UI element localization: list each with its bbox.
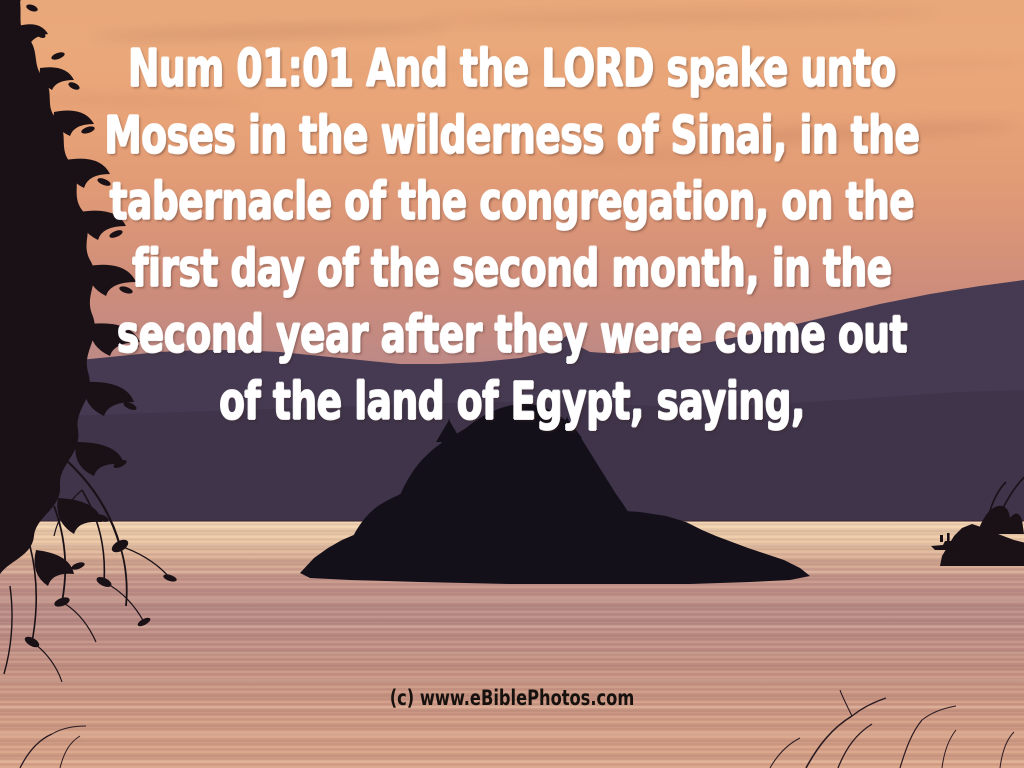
cloud-streak [420,8,940,25]
right-shore-brush-silhouette [940,470,1024,580]
bible-verse-text: Num 01:01 And the LORD spake unto Moses … [102,36,921,435]
copyright-credit: (c) www.eBiblePhotos.com [72,686,953,710]
image-canvas: Num 01:01 And the LORD spake unto Moses … [0,0,1024,768]
boat-silhouette [929,532,963,554]
